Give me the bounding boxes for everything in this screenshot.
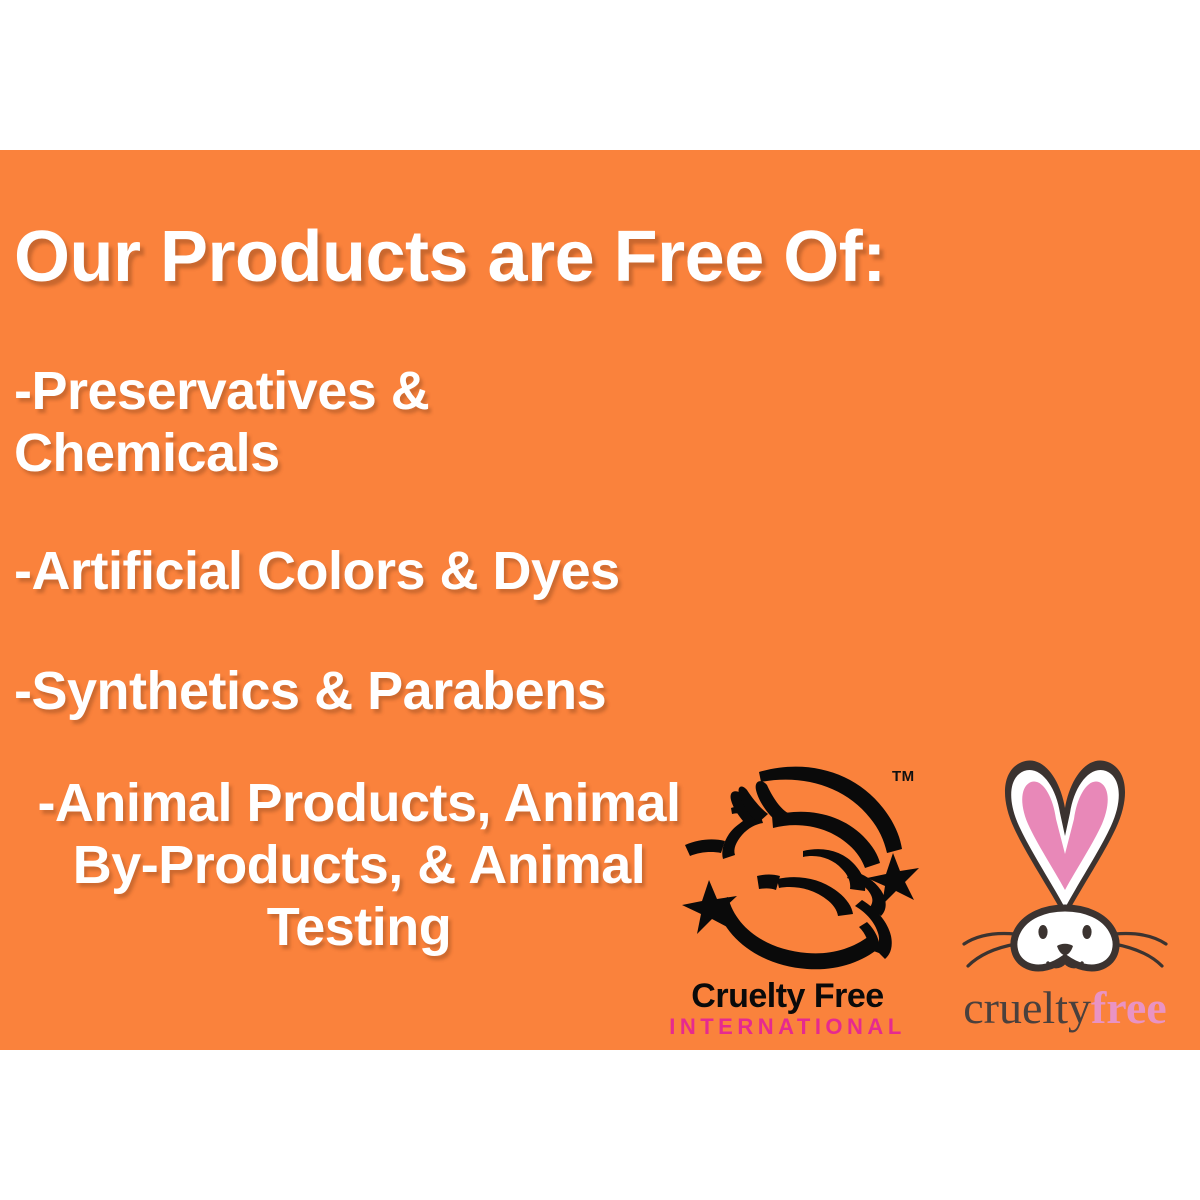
cfi-caption-main: Cruelty Free bbox=[655, 978, 920, 1014]
free-of-list: -Preservatives & Chemicals -Artificial C… bbox=[14, 360, 704, 996]
cfi-caption: Cruelty Free INTERNATIONAL bbox=[655, 978, 920, 1040]
cruelty-free-logo: crueltyfree bbox=[930, 750, 1200, 978]
bunny-heart-ears-icon bbox=[930, 750, 1200, 978]
leaping-bunny-icon bbox=[655, 750, 920, 975]
cf-caption-word1: cruelty bbox=[963, 982, 1091, 1033]
cfi-caption-sub: INTERNATIONAL bbox=[655, 1014, 920, 1040]
cruelty-free-international-logo: TM Cruelty Free INTERNATIONAL bbox=[655, 750, 920, 975]
poster-canvas: Our Products are Free Of: -Preservatives… bbox=[0, 0, 1200, 1200]
trademark-icon: TM bbox=[892, 768, 915, 785]
list-item: -Synthetics & Parabens bbox=[14, 660, 704, 722]
list-item: -Preservatives & Chemicals bbox=[14, 360, 704, 484]
list-item: -Animal Products, Animal By-Products, & … bbox=[14, 772, 704, 958]
page-title: Our Products are Free Of: bbox=[14, 218, 1014, 296]
certification-logos: TM Cruelty Free INTERNATIONAL bbox=[655, 750, 1200, 1050]
orange-banner: Our Products are Free Of: -Preservatives… bbox=[0, 150, 1200, 1050]
list-item: -Artificial Colors & Dyes bbox=[14, 540, 704, 602]
cf-caption-word2: free bbox=[1091, 982, 1167, 1033]
cf-caption: crueltyfree bbox=[930, 982, 1200, 1034]
